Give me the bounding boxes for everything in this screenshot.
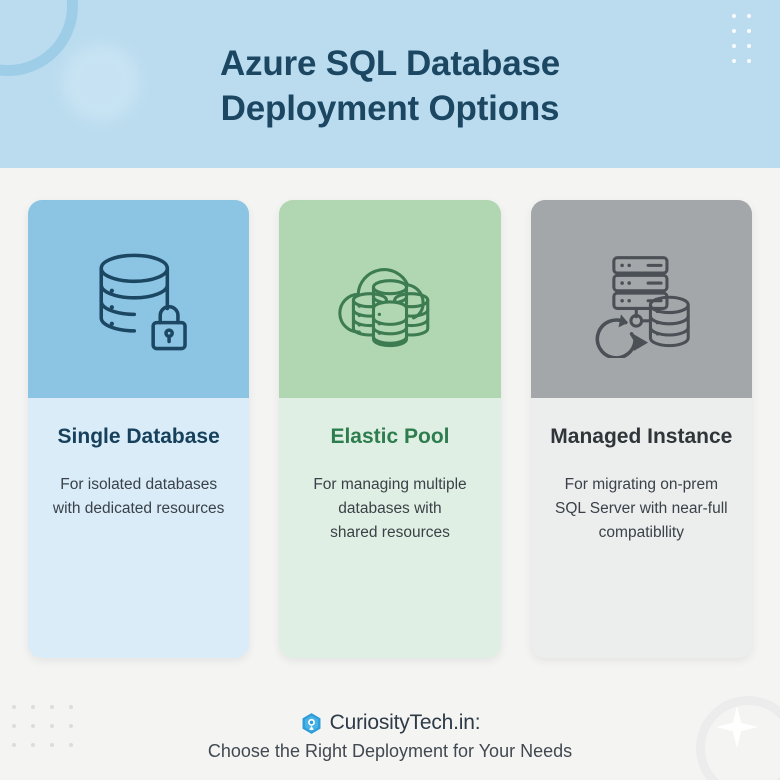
- card-managed-instance[interactable]: Managed Instance For migrating on-prem S…: [531, 200, 752, 658]
- card-icon-area: [279, 200, 500, 398]
- card-title: Managed Instance: [547, 424, 736, 449]
- cloud-databases-icon: [331, 240, 449, 358]
- curiositytech-hexagon-logo: [300, 712, 323, 735]
- card-description-line-1: For isolated databases: [44, 473, 233, 497]
- card-title: Elastic Pool: [295, 424, 484, 449]
- infographic-page: Azure SQL Database Deployment Options: [0, 0, 780, 780]
- page-title-line-1: Azure SQL Database: [0, 42, 780, 87]
- card-description-line-3: shared resources: [295, 521, 484, 545]
- page-title-line-2: Deployment Options: [0, 87, 780, 132]
- card-single-database[interactable]: Single Database For isolated databases w…: [28, 200, 249, 658]
- card-description-line-1: For migrating on-prem: [547, 473, 736, 497]
- card-description-line-2: with dedicated resources: [44, 497, 233, 521]
- card-elastic-pool[interactable]: Elastic Pool For managing multiple datab…: [279, 200, 500, 658]
- card-description-line-3: compatibllity: [547, 521, 736, 545]
- card-description-line-2: SQL Server with near-full: [547, 497, 736, 521]
- page-title: Azure SQL Database Deployment Options: [0, 42, 780, 132]
- card-description: For managing multiple databases with sha…: [295, 473, 484, 545]
- brand-name: CuriosityTech.in:: [330, 711, 481, 735]
- database-lock-icon: [80, 240, 198, 358]
- card-text-area: Single Database For isolated databases w…: [28, 398, 249, 658]
- card-text-area: Elastic Pool For managing multiple datab…: [279, 398, 500, 658]
- brand-row: CuriosityTech.in:: [0, 711, 780, 735]
- server-migration-database-icon: [582, 240, 700, 358]
- card-icon-area: [28, 200, 249, 398]
- card-description: For isolated databases with dedicated re…: [44, 473, 233, 521]
- card-description-line-1: For managing multiple: [295, 473, 484, 497]
- card-description: For migrating on-prem SQL Server with ne…: [547, 473, 736, 545]
- card-text-area: Managed Instance For migrating on-prem S…: [531, 398, 752, 658]
- deployment-options-cards: Single Database For isolated databases w…: [28, 200, 752, 658]
- card-icon-area: [531, 200, 752, 398]
- footer-tagline: Choose the Right Deployment for Your Nee…: [0, 741, 780, 762]
- card-title: Single Database: [44, 424, 233, 449]
- card-description-line-2: databases with: [295, 497, 484, 521]
- header-banner: Azure SQL Database Deployment Options: [0, 0, 780, 168]
- footer: CuriosityTech.in: Choose the Right Deplo…: [0, 711, 780, 762]
